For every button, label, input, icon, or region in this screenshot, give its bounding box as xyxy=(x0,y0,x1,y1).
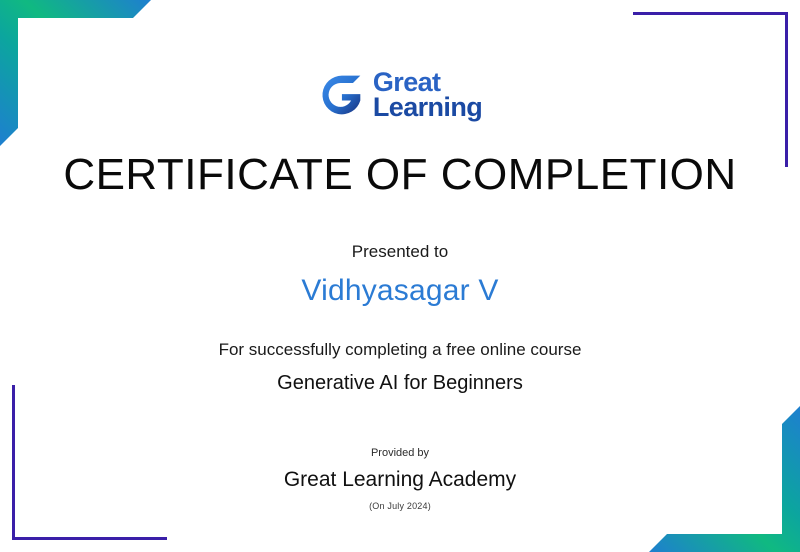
certificate-title: CERTIFICATE OF COMPLETION xyxy=(63,150,736,200)
wordmark-line-learning: Learning xyxy=(373,95,482,120)
presented-to-label: Presented to xyxy=(352,242,448,262)
recipient-name: Vidhyasagar V xyxy=(301,274,498,308)
course-intro-text: For successfully completing a free onlin… xyxy=(219,340,582,360)
brand-wordmark: Great Learning xyxy=(373,70,482,121)
course-name: Generative AI for Beginners xyxy=(277,372,523,395)
brand-logo: Great Learning xyxy=(318,66,482,124)
issue-date: (On July 2024) xyxy=(369,501,431,511)
provided-by-label: Provided by xyxy=(371,447,429,459)
provider-name: Great Learning Academy xyxy=(284,468,516,492)
certificate-content: Great Learning CERTIFICATE OF COMPLETION… xyxy=(0,0,800,552)
certificate-document: Great Learning CERTIFICATE OF COMPLETION… xyxy=(0,0,800,552)
great-learning-g-mark-icon xyxy=(318,72,364,118)
